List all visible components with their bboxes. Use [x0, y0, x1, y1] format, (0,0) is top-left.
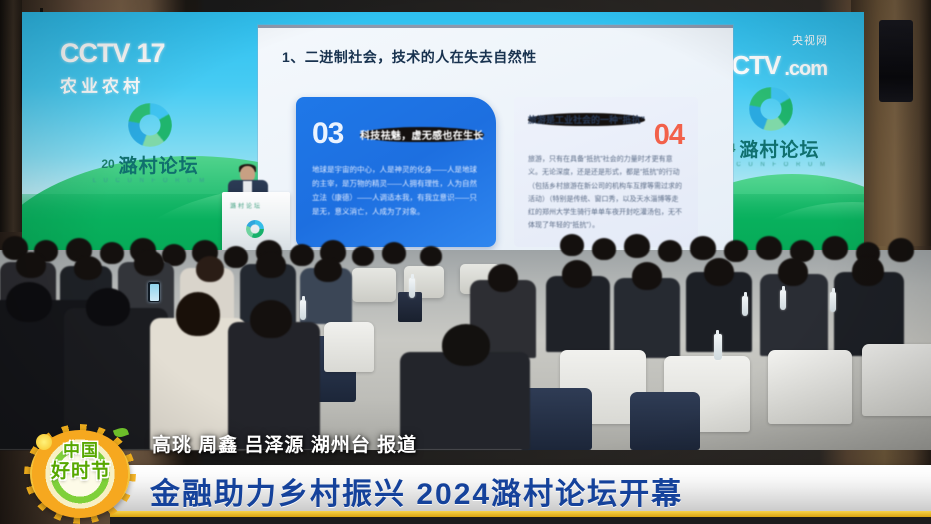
forum-year-label: 20 [101, 159, 114, 170]
audience-head [250, 300, 292, 338]
audience-head [16, 252, 46, 278]
headline-text: 金融助力乡村振兴 2024潞村论坛开幕 [150, 469, 683, 513]
water-bottle [780, 290, 786, 310]
water-bottle [830, 292, 836, 312]
forum-logo-left: 20 潞村论坛 [60, 151, 240, 178]
audience-chair [630, 392, 700, 450]
audience-head [442, 324, 490, 366]
slide-title: 1、二进制社会，技术的人在失去自然性 [282, 47, 537, 67]
slide-card-04-heading: 旅游是工业社会的一种“抵抗” [528, 113, 645, 126]
audience-head [658, 240, 682, 262]
cctv-channel-subtitle: 农业农村 [60, 72, 240, 97]
wall-panel-left [0, 0, 22, 232]
broadcast-frame: CCTV 17 农业农村 20 潞村论坛 L U C U N F O R U M… [0, 0, 931, 524]
audience-head [778, 258, 808, 286]
water-bottle [409, 278, 415, 298]
audience-head [100, 242, 124, 264]
audience-head [314, 258, 342, 282]
cctv-channel-number: 17 [137, 38, 165, 69]
program-logo-badge: 中国 好时节 [22, 424, 140, 522]
audience-head [352, 246, 374, 266]
audience-head [74, 256, 102, 280]
audience-head [562, 260, 592, 288]
audience-head [420, 246, 442, 266]
water-bottle [300, 300, 306, 320]
audience-body [760, 274, 828, 356]
forum-name-cn: 潞村论坛 [739, 135, 819, 162]
slide-card-03-body: 地球是宇宙的中心，人是神灵的化身——人是地球的主宰，是万物的精灵——人拥有理性，… [312, 163, 484, 219]
slide-card-04-number: 04 [654, 119, 684, 152]
reporter-credits: 高珧 周鑫 吕泽源 湖州台 报道 [152, 430, 417, 457]
badge-line-1: 中国 [63, 441, 99, 460]
audience-head [256, 252, 286, 278]
cctv-cn-label: 央视网 [792, 32, 828, 48]
badge-text: 中国 好时节 [22, 442, 140, 482]
audience-head [196, 256, 224, 282]
audience-head [290, 244, 314, 266]
audience-head [86, 288, 130, 326]
audience-head [724, 240, 748, 262]
slide-card-04-body: 旅游，只有在具备“抵抗”社会的力量时才更有意义。无论深度，还是还是形式，都是“抵… [528, 153, 684, 233]
audience-chair [324, 322, 374, 372]
cctv-wordmark-text: CCTV [60, 38, 130, 69]
forum-name-cn: 潞村论坛 [119, 151, 199, 178]
audience-head [888, 238, 914, 262]
circular-ring-icon [246, 220, 264, 238]
audience-head [560, 234, 584, 256]
audience-head [690, 236, 716, 260]
pa-speaker-right [879, 20, 913, 102]
cctv-domain-text: .com [784, 58, 827, 81]
audience-chair [768, 350, 852, 424]
banner-base-shadow [110, 517, 931, 524]
water-bottle [742, 296, 748, 316]
badge-line-2: 好时节 [22, 462, 140, 482]
audience-head [632, 262, 662, 290]
audience-head [382, 242, 406, 264]
forum-name-en: L U C U N F O R U M [60, 178, 240, 184]
headline-banner: 金融助力乡村振兴 2024潞村论坛开幕 [110, 465, 931, 513]
audience-head [134, 250, 164, 276]
audience-head [852, 256, 884, 286]
smartphone [148, 282, 160, 302]
audience-head [624, 234, 650, 258]
audience-head [488, 264, 518, 292]
cctv17-branding-left: CCTV 17 农业农村 20 潞村论坛 L U C U N F O R U M [60, 38, 240, 184]
audience-chair [520, 388, 592, 450]
slide-card-03-number: 03 [312, 117, 343, 151]
podium-label: 潞村论坛 [230, 201, 262, 210]
presentation-slide: 1、二进制社会，技术的人在失去自然性 03 科技祛魅，虚无感也在生长 地球是宇宙… [258, 25, 733, 253]
circular-ring-icon [128, 103, 172, 147]
audience-body [400, 352, 530, 450]
audience-head [6, 282, 52, 322]
slide-card-04: 旅游是工业社会的一种“抵抗” 04 旅游，只有在具备“抵抗”社会的力量时才更有意… [514, 97, 698, 247]
slide-top-border [258, 25, 733, 28]
cctv-logo: CCTV 17 [60, 38, 240, 69]
circular-ring-icon [749, 87, 793, 131]
audience-head [704, 258, 734, 286]
lounge-chair [352, 268, 396, 302]
forum-ring-icon-wrap [60, 103, 240, 147]
audience-head [822, 236, 848, 260]
audience-head [756, 236, 782, 260]
slide-card-03: 03 科技祛魅，虚无感也在生长 地球是宇宙的中心，人是神灵的化身——人是地球的主… [296, 97, 496, 247]
audience-chair [862, 344, 931, 416]
stage-led-screen: CCTV 17 农业农村 20 潞村论坛 L U C U N F O R U M… [22, 12, 864, 260]
water-bottle [714, 334, 722, 360]
audience-head [592, 238, 616, 260]
audience-head [176, 292, 220, 336]
audience-body [614, 278, 680, 358]
slide-card-03-heading: 科技祛魅，虚无感也在生长 [360, 127, 484, 142]
